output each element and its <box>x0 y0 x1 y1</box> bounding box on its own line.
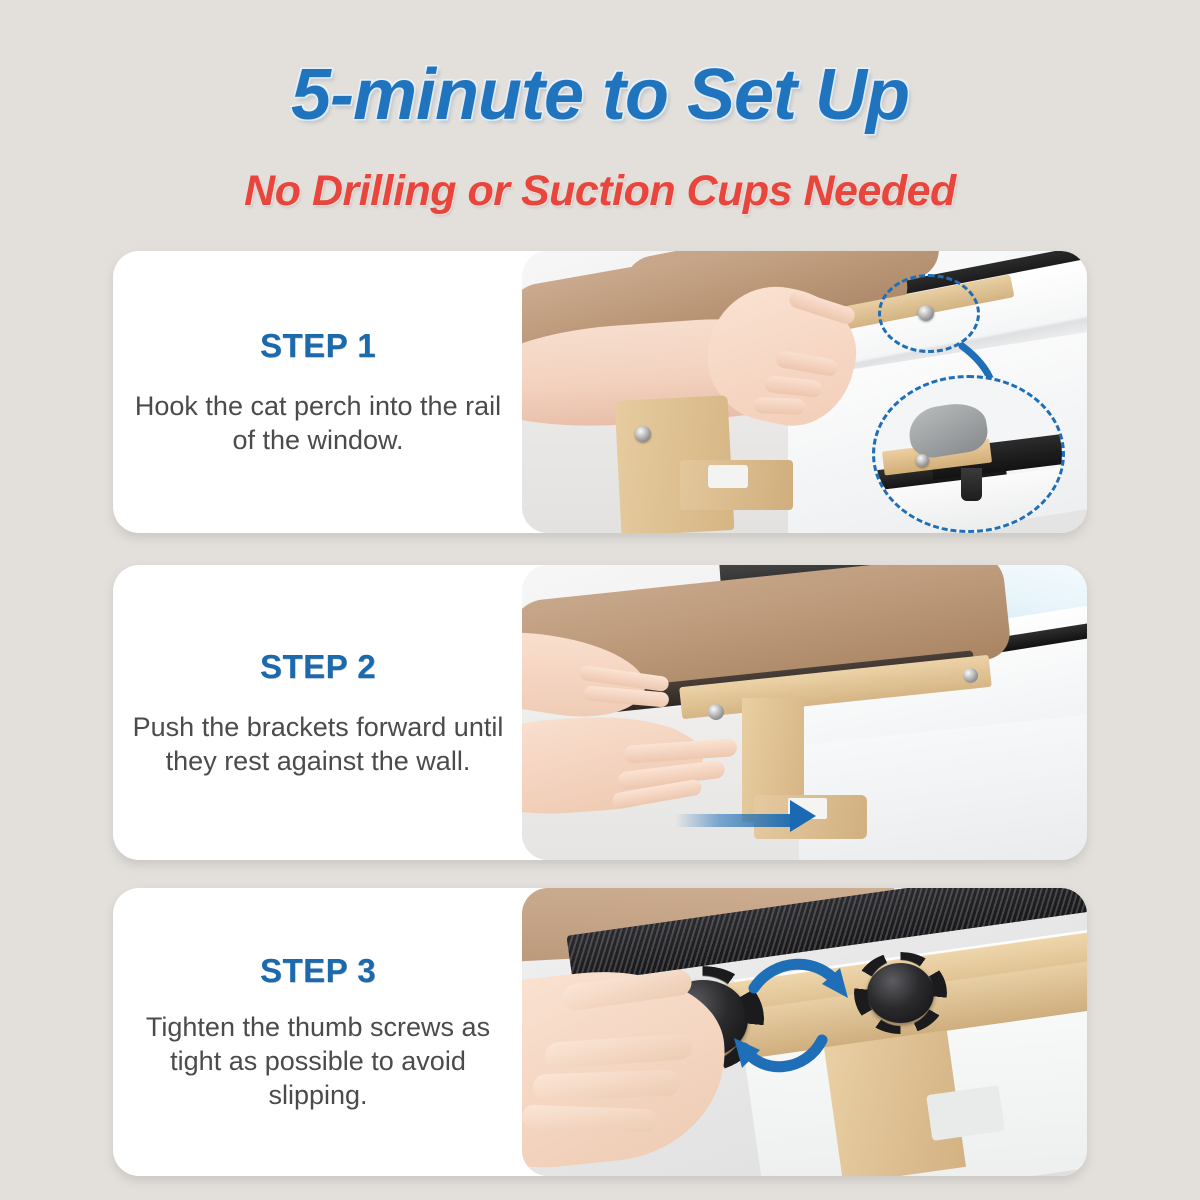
step-3-description: Tighten the thumb screws as tight as pos… <box>127 1010 509 1112</box>
step-3-photo <box>522 888 1087 1176</box>
magnified-detail-circle <box>872 375 1064 533</box>
page-subtitle: No Drilling or Suction Cups Needed <box>0 168 1200 214</box>
step-2-label: STEP 2 <box>260 648 376 686</box>
step-2-text-block: STEP 2 Push the brackets forward until t… <box>113 565 523 860</box>
step-1-photo <box>522 251 1087 533</box>
push-arrow-head <box>790 800 816 832</box>
step-1-text-block: STEP 1 Hook the cat perch into the rail … <box>113 251 523 533</box>
step-card-3: STEP 3 Tighten the thumb screws as tight… <box>113 888 1087 1176</box>
infographic-page: 5-minute to Set Up No Drilling or Suctio… <box>0 0 1200 1200</box>
step-1-description: Hook the cat perch into the rail of the … <box>127 389 509 457</box>
step-2-description: Push the brackets forward until they res… <box>127 710 509 778</box>
rotation-arrows <box>522 888 1087 1176</box>
step-card-2: STEP 2 Push the brackets forward until t… <box>113 565 1087 860</box>
page-title: 5-minute to Set Up <box>0 58 1200 132</box>
push-arrow-shaft <box>675 814 799 826</box>
step-3-label: STEP 3 <box>260 952 376 990</box>
step-3-text-block: STEP 3 Tighten the thumb screws as tight… <box>113 888 523 1176</box>
step-2-photo <box>522 565 1087 860</box>
step-1-label: STEP 1 <box>260 327 376 365</box>
step-card-1: STEP 1 Hook the cat perch into the rail … <box>113 251 1087 533</box>
